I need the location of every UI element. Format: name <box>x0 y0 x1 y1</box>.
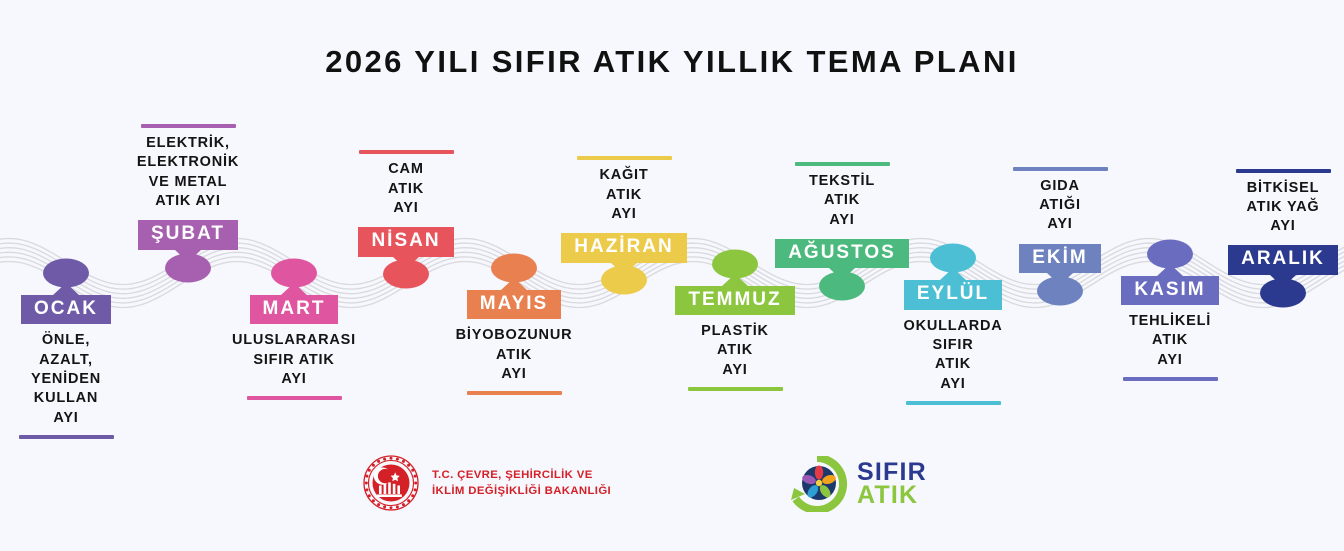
zero-waste-wordmark: SIFIR ATIK <box>857 461 927 508</box>
month-pointer-subat <box>175 250 201 262</box>
month-theme-aralik: BİTKİSEL ATIK YAĞ AYI <box>1178 179 1344 237</box>
month-theme-mayis: BİYOBOZUNUR ATIK AYI <box>409 326 619 384</box>
month-theme-temmuz: PLASTİK ATIK AYI <box>630 322 840 380</box>
month-rule-subat <box>141 124 236 128</box>
month-block-subat: ELEKTRİK, ELEKTRONİK VE METAL ATIK AYIŞU… <box>83 124 293 250</box>
month-pointer-ocak <box>53 283 79 295</box>
turkish-republic-emblem-icon <box>362 454 420 512</box>
month-label-mayis[interactable]: MAYIS <box>467 290 561 319</box>
month-rule-mart <box>247 396 342 400</box>
month-rule-nisan <box>359 150 454 154</box>
month-pointer-nisan <box>393 257 419 269</box>
month-block-mayis: MAYISBİYOBOZUNUR ATIK AYI <box>409 290 619 395</box>
month-block-agustos: TEKSTİL ATIK AYIAĞUSTOS <box>737 162 947 268</box>
month-rule-ekim <box>1013 167 1108 171</box>
month-rule-aralik <box>1236 169 1331 173</box>
month-label-ekim[interactable]: EKİM <box>1019 244 1101 273</box>
month-rule-eylul <box>906 401 1001 405</box>
month-theme-haziran: KAĞIT ATIK AYI <box>519 166 729 224</box>
month-label-eylul[interactable]: EYLÜL <box>904 280 1002 309</box>
month-pointer-mayis <box>501 278 527 290</box>
month-label-subat[interactable]: ŞUBAT <box>138 220 238 249</box>
footer-logos: T.C. ÇEVRE, ŞEHİRCİLİK VE İKLİM DEĞİŞİKL… <box>0 452 1344 522</box>
ministry-logo: T.C. ÇEVRE, ŞEHİRCİLİK VE İKLİM DEĞİŞİKL… <box>362 454 611 512</box>
month-label-aralik[interactable]: ARALIK <box>1228 245 1338 274</box>
month-pointer-agustos <box>829 268 855 280</box>
zero-waste-flower-recycle-icon <box>786 456 848 512</box>
month-block-eylul: EYLÜLOKULLARDA SIFIR ATIK AYI <box>848 280 1058 405</box>
month-pointer-temmuz <box>722 274 748 286</box>
month-block-mart: MARTULUSLARARASI SIFIR ATIK AYI <box>189 295 399 400</box>
month-label-nisan[interactable]: NİSAN <box>358 227 453 256</box>
month-block-kasim: KASIMTEHLİKELİ ATIK AYI <box>1065 276 1275 381</box>
month-label-kasim[interactable]: KASIM <box>1121 276 1218 305</box>
month-label-agustos[interactable]: AĞUSTOS <box>775 239 909 268</box>
infographic-canvas: 2026 YILI SIFIR ATIK YILLIK TEMA PLANI O… <box>0 0 1344 551</box>
month-block-aralik: BİTKİSEL ATIK YAĞ AYIARALIK <box>1178 169 1344 275</box>
month-block-nisan: CAM ATIK AYINİSAN <box>301 150 511 256</box>
zero-waste-logo: SIFIR ATIK <box>786 456 927 512</box>
month-pointer-aralik <box>1270 275 1296 287</box>
month-theme-ocak: ÖNLE, AZALT, YENİDEN KULLAN AYI <box>0 331 171 427</box>
month-theme-eylul: OKULLARDA SIFIR ATIK AYI <box>848 317 1058 394</box>
month-theme-nisan: CAM ATIK AYI <box>301 160 511 218</box>
month-block-temmuz: TEMMUZPLASTİK ATIK AYI <box>630 286 840 391</box>
month-rule-ocak <box>19 435 114 439</box>
month-theme-subat: ELEKTRİK, ELEKTRONİK VE METAL ATIK AYI <box>83 134 293 211</box>
month-rule-temmuz <box>688 387 783 391</box>
month-rule-mayis <box>467 391 562 395</box>
month-theme-agustos: TEKSTİL ATIK AYI <box>737 172 947 230</box>
month-label-temmuz[interactable]: TEMMUZ <box>675 286 794 315</box>
month-label-ocak[interactable]: OCAK <box>21 295 111 324</box>
month-label-mart[interactable]: MART <box>250 295 339 324</box>
month-block-ocak: OCAKÖNLE, AZALT, YENİDEN KULLAN AYI <box>0 295 171 439</box>
ministry-name: T.C. ÇEVRE, ŞEHİRCİLİK VE İKLİM DEĞİŞİKL… <box>432 467 611 499</box>
month-theme-ekim: GIDA ATIĞI AYI <box>955 177 1165 235</box>
month-theme-mart: ULUSLARARASI SIFIR ATIK AYI <box>189 331 399 389</box>
month-label-haziran[interactable]: HAZİRAN <box>561 233 687 262</box>
month-block-ekim: GIDA ATIĞI AYIEKİM <box>955 167 1165 273</box>
month-block-haziran: KAĞIT ATIK AYIHAZİRAN <box>519 156 729 262</box>
month-pointer-haziran <box>611 263 637 275</box>
month-rule-kasim <box>1123 377 1218 381</box>
zero-waste-line2: ATIK <box>857 484 927 507</box>
month-rule-haziran <box>577 156 672 160</box>
month-rule-agustos <box>795 162 890 166</box>
month-theme-kasim: TEHLİKELİ ATIK AYI <box>1065 312 1275 370</box>
page-title: 2026 YILI SIFIR ATIK YILLIK TEMA PLANI <box>0 44 1344 80</box>
month-pointer-mart <box>281 283 307 295</box>
